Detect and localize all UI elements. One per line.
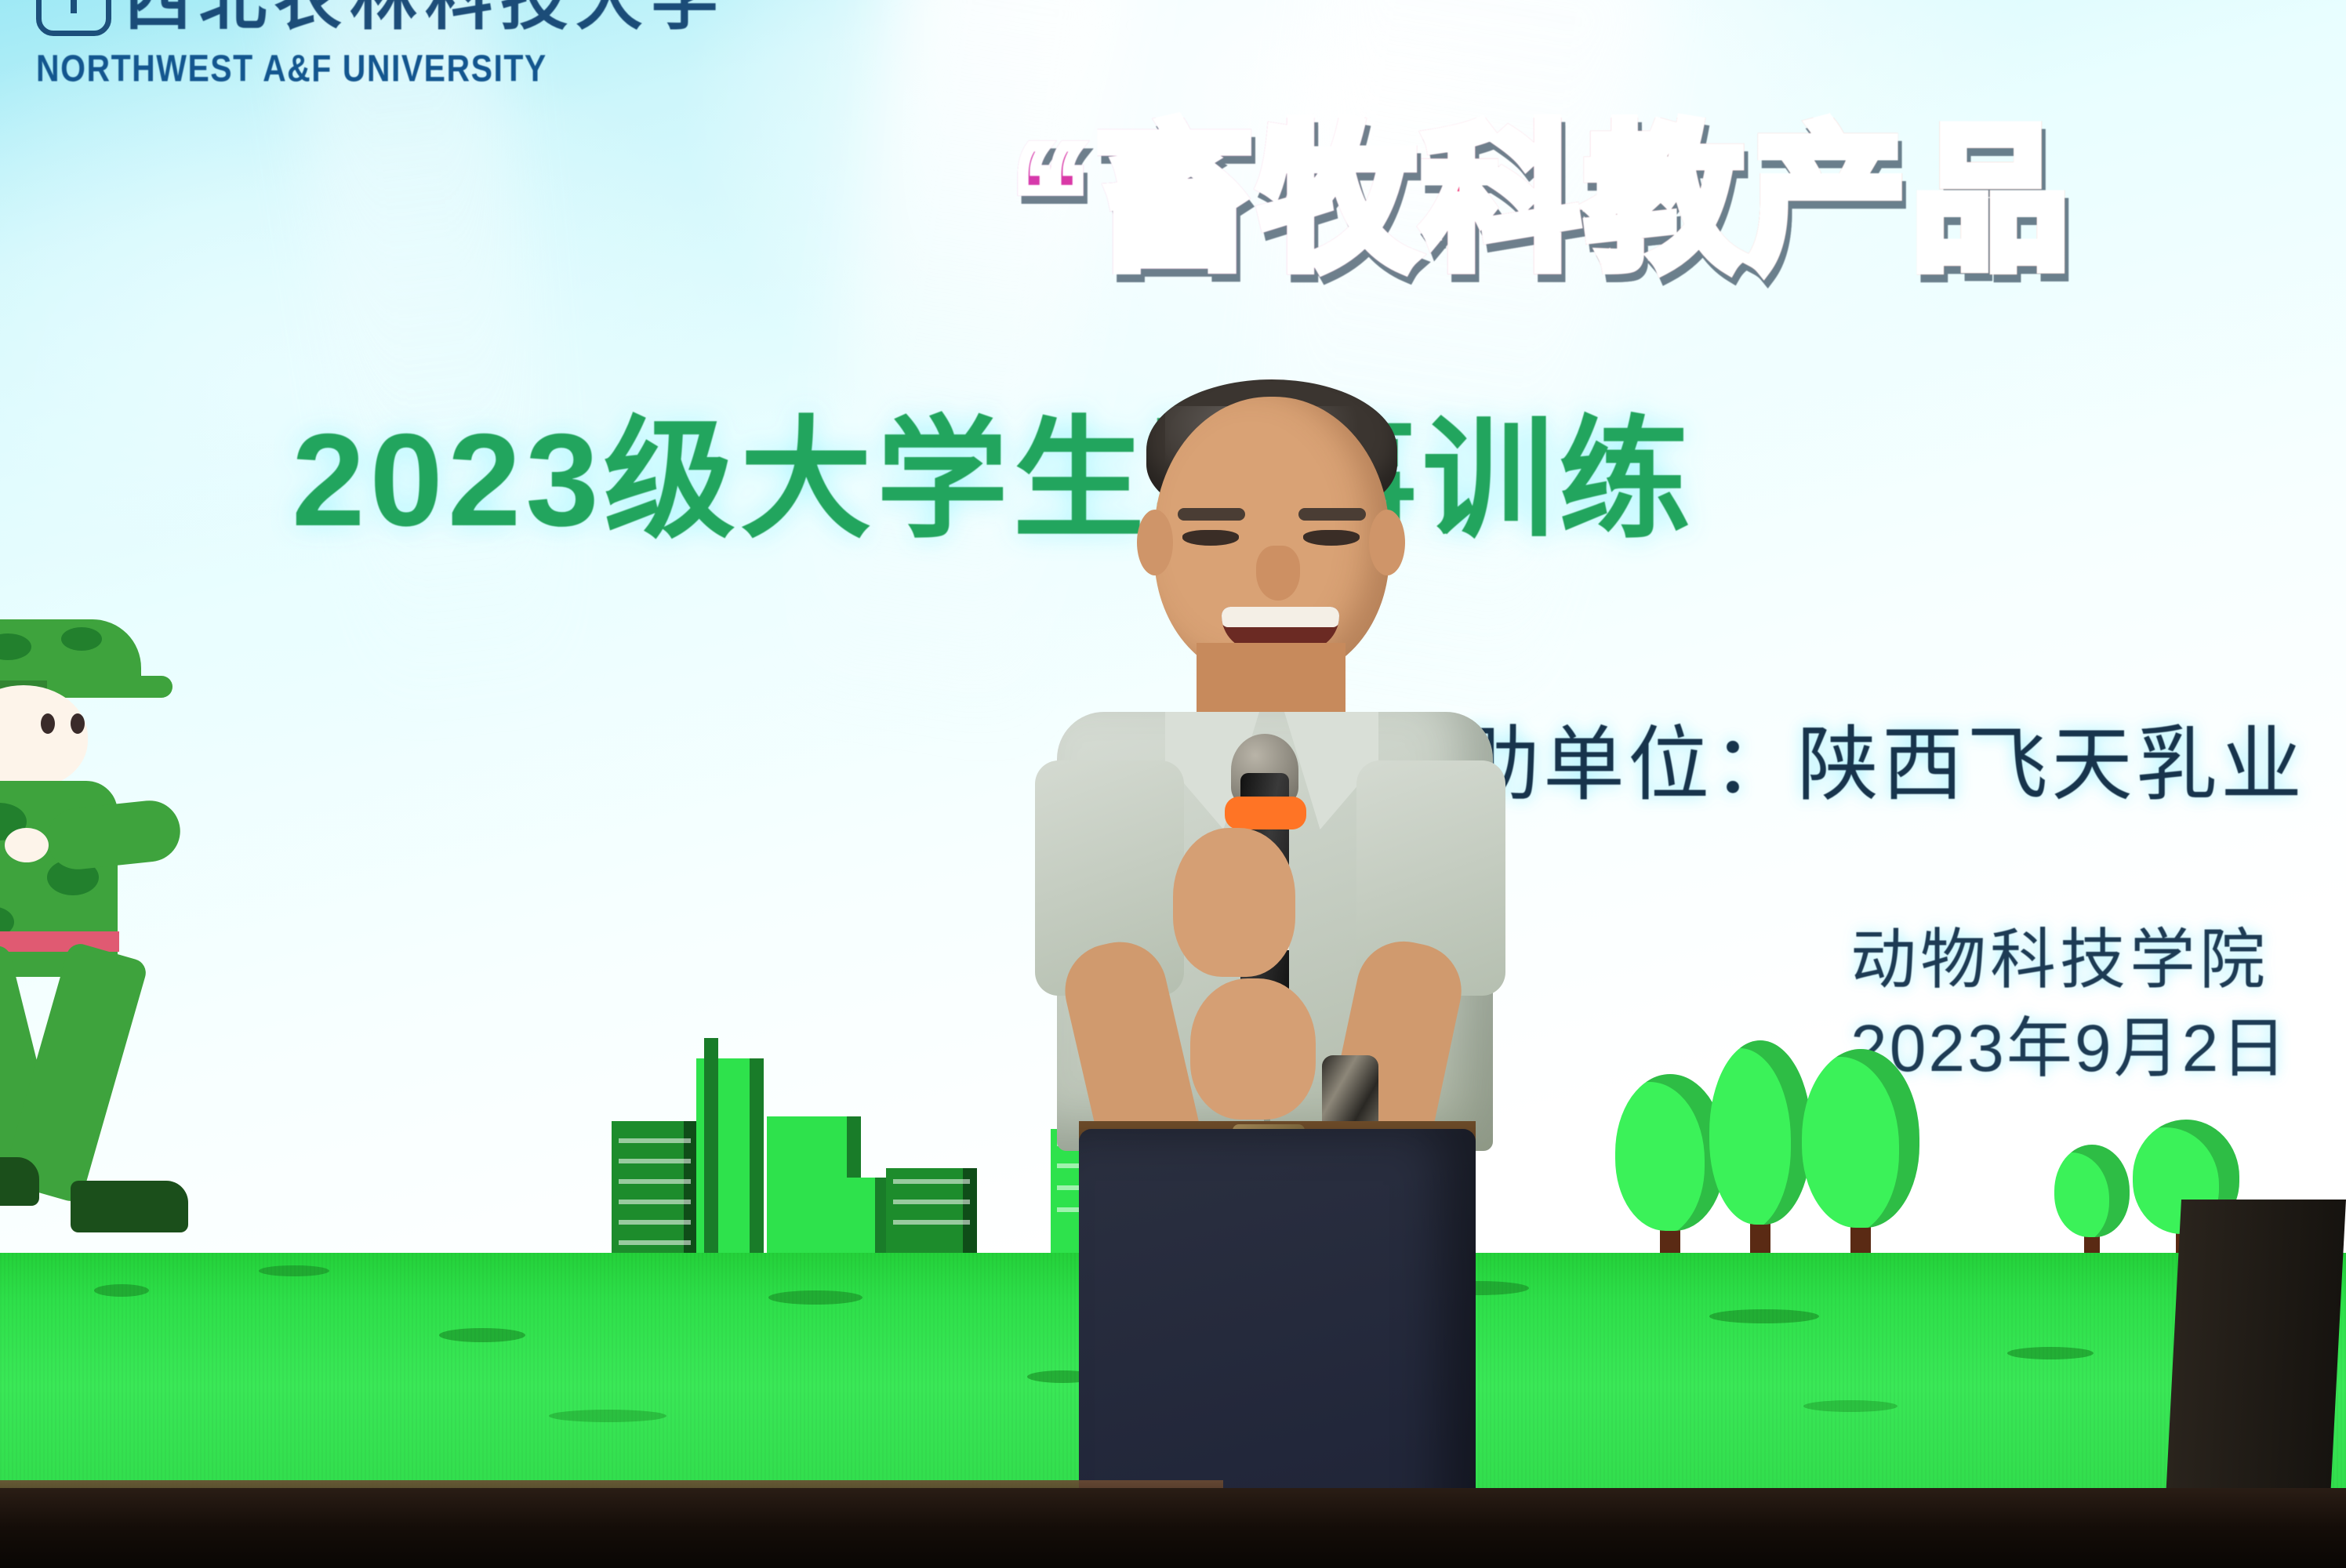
university-logo: 西北农林科技大学 NORTHWEST A&F UNIVERSITY	[36, 0, 726, 84]
speaker-person	[1011, 392, 1529, 1568]
university-name-chinese: 西北农林科技大学	[124, 0, 726, 34]
hand-upper	[1173, 828, 1295, 977]
eye	[1182, 530, 1239, 546]
tree-group-illustration	[1615, 1043, 2266, 1278]
eyebrow	[1298, 508, 1366, 521]
nose	[1256, 546, 1300, 601]
teeth	[1222, 607, 1339, 627]
eyebrow	[1178, 508, 1245, 521]
building-icon	[612, 1121, 698, 1270]
screenshot-root: 西北农林科技大学 NORTHWEST A&F UNIVERSITY “畜牧科教产…	[0, 0, 2346, 1568]
tree-icon	[1802, 1049, 1919, 1278]
soldier-mascot-illustration	[0, 619, 212, 1278]
tree-icon	[1615, 1082, 1725, 1278]
sponsor-line: 助单位：陕西飞天乳业	[1458, 698, 2305, 816]
university-crest-icon	[36, 0, 111, 36]
soldier-hand-icon	[5, 828, 49, 862]
building-antenna-icon	[704, 1038, 718, 1270]
tree-icon	[1709, 1043, 1811, 1278]
soldier-face-icon	[0, 685, 88, 789]
soldier-boot-icon	[71, 1181, 188, 1232]
ear	[1369, 510, 1405, 575]
hand-lower	[1190, 978, 1316, 1120]
soldier-boot-icon	[0, 1157, 39, 1206]
microphone-grip-icon	[1225, 797, 1306, 829]
university-name-english: NORTHWEST A&F UNIVERSITY	[36, 47, 726, 90]
logo-row: 西北农林科技大学	[36, 0, 726, 36]
soldier-cap-icon	[0, 619, 141, 695]
organizer-label: 动物科技学院	[1850, 916, 2289, 1004]
event-headline-primary: “畜牧科教产品	[1011, 118, 2075, 284]
eye	[1303, 530, 1360, 546]
ear	[1137, 510, 1173, 575]
stage-floor	[0, 1488, 2346, 1568]
light-beam-icon	[282, 0, 580, 731]
